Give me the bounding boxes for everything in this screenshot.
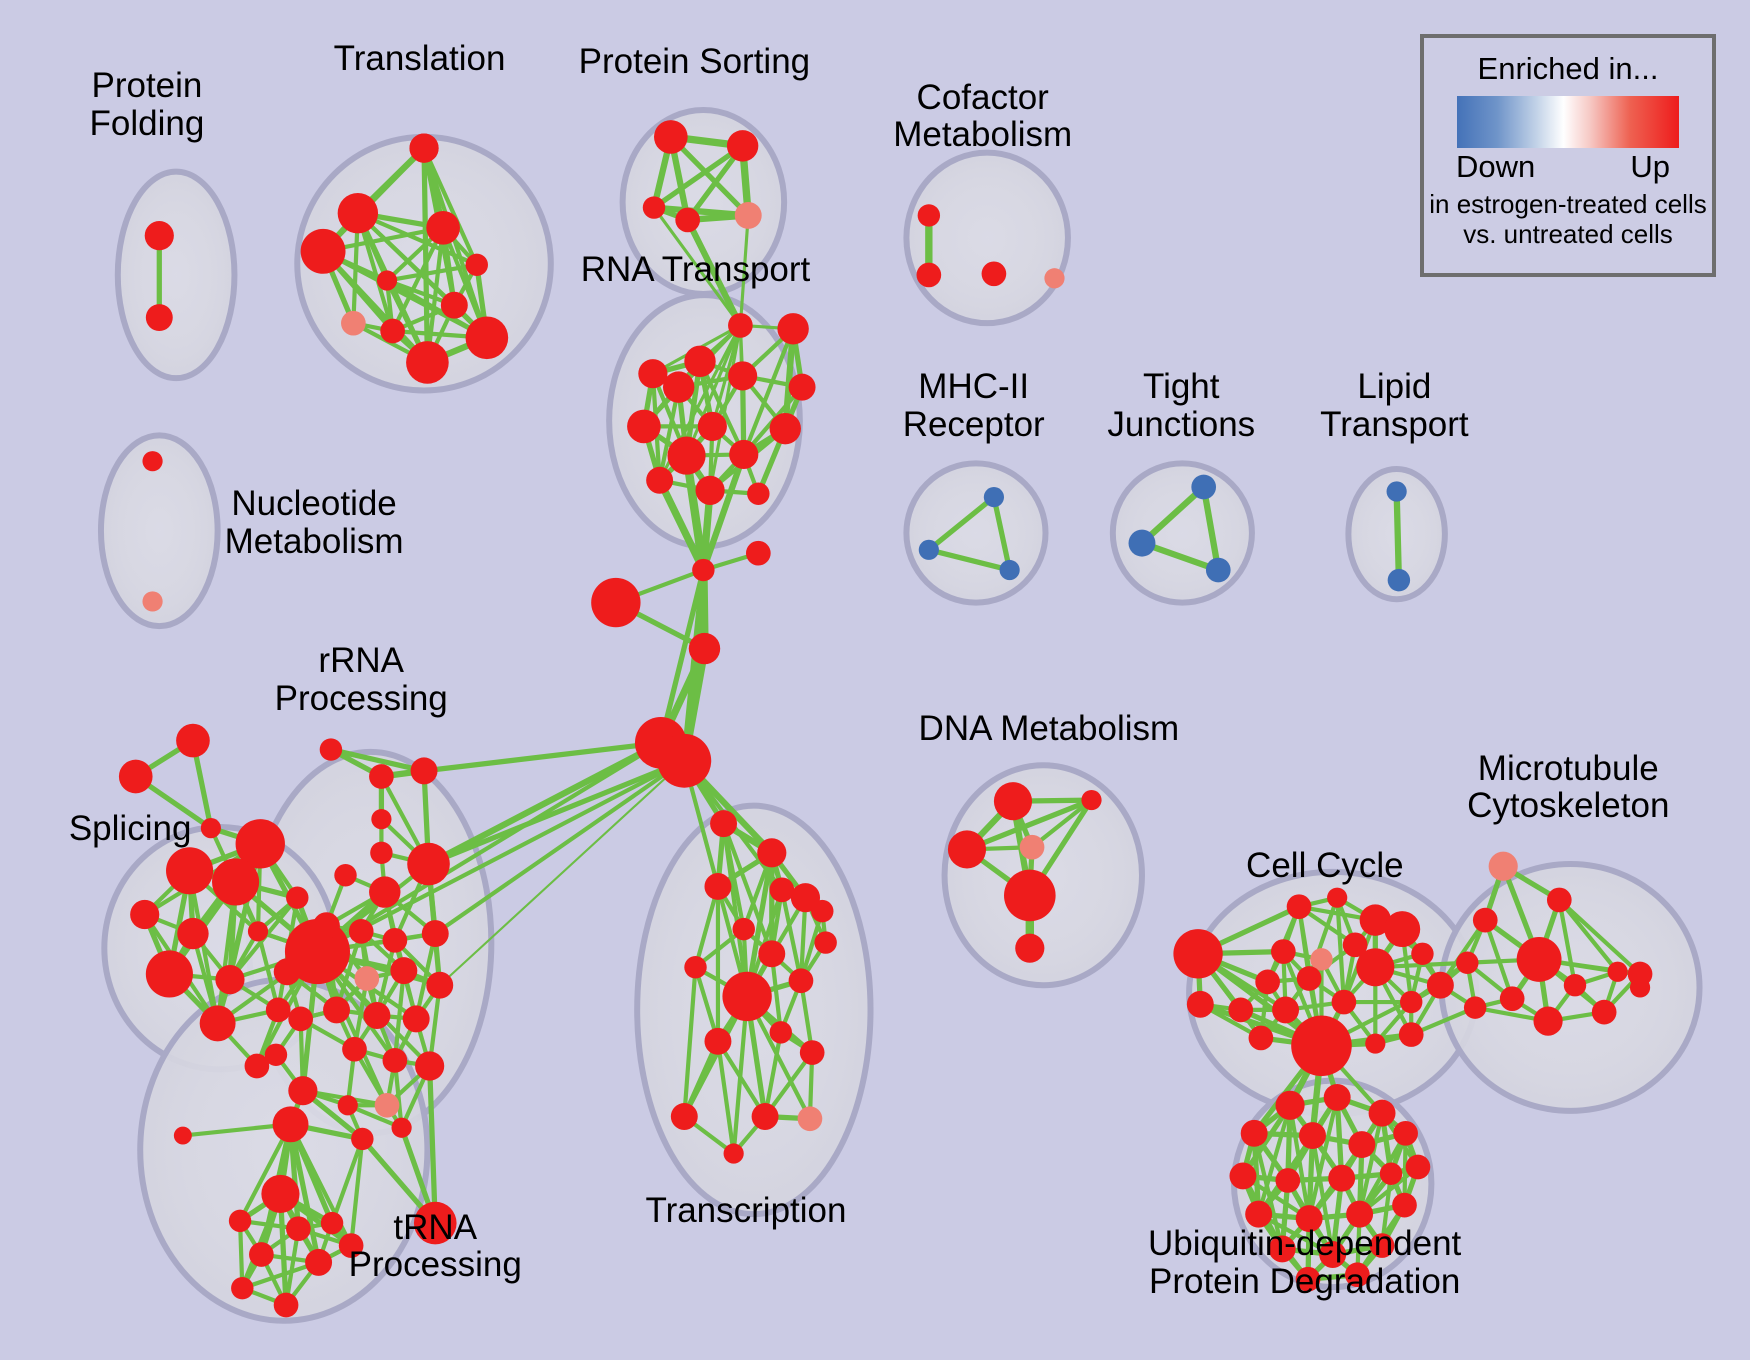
legend-color-gradient-bar (1457, 96, 1679, 148)
network-node[interactable] (323, 996, 350, 1023)
network-node[interactable] (371, 809, 391, 829)
network-node[interactable] (411, 757, 438, 784)
network-node[interactable] (338, 193, 378, 233)
network-node[interactable] (994, 782, 1032, 820)
network-node[interactable] (305, 1249, 332, 1276)
network-node[interactable] (369, 764, 394, 789)
network-node[interactable] (1348, 1131, 1375, 1158)
network-node[interactable] (466, 254, 488, 276)
network-node[interactable] (1533, 1007, 1562, 1036)
network-node[interactable] (1628, 962, 1653, 987)
network-node[interactable] (176, 724, 210, 758)
network-node[interactable] (177, 918, 208, 949)
network-node[interactable] (1406, 1155, 1431, 1180)
network-node[interactable] (591, 578, 640, 627)
network-node[interactable] (1245, 1201, 1272, 1228)
figure-canvas: Protein FoldingTranslationProtein Sortin… (0, 0, 1750, 1360)
network-edge (424, 148, 427, 362)
cluster-ellipse[interactable] (906, 463, 1045, 602)
network-node[interactable] (406, 341, 449, 384)
network-node[interactable] (1299, 1122, 1326, 1149)
network-node[interactable] (1592, 1000, 1617, 1025)
network-node[interactable] (1206, 558, 1231, 583)
network-node[interactable] (414, 1202, 457, 1245)
network-node[interactable] (145, 221, 174, 250)
network-node[interactable] (375, 1093, 400, 1118)
network-node[interactable] (704, 1028, 731, 1055)
network-node[interactable] (265, 1044, 287, 1066)
legend-caption-line-2: vs. untreated cells (1424, 220, 1712, 249)
network-node[interactable] (770, 1021, 792, 1043)
network-node[interactable] (1297, 966, 1322, 991)
network-node[interactable] (119, 760, 153, 794)
network-node[interactable] (1384, 911, 1420, 947)
network-node[interactable] (249, 1242, 274, 1267)
network-node[interactable] (798, 1106, 823, 1131)
network-node[interactable] (1388, 569, 1410, 591)
network-node[interactable] (174, 1127, 192, 1145)
network-node[interactable] (274, 1293, 299, 1318)
network-node[interactable] (657, 734, 711, 788)
network-node[interactable] (684, 346, 715, 377)
network-node[interactable] (1387, 481, 1407, 501)
network-node[interactable] (1328, 1165, 1355, 1192)
network-node[interactable] (770, 877, 795, 902)
network-node[interactable] (261, 1175, 299, 1213)
network-node[interactable] (814, 931, 836, 953)
network-node[interactable] (627, 410, 661, 444)
network-node[interactable] (1272, 996, 1299, 1023)
network-node[interactable] (351, 1128, 373, 1150)
network-node[interactable] (1608, 962, 1628, 982)
network-node[interactable] (789, 374, 816, 401)
network-node[interactable] (1275, 1091, 1304, 1120)
cluster-ellipse[interactable] (118, 172, 235, 378)
network-node[interactable] (1000, 560, 1020, 580)
network-node[interactable] (646, 467, 673, 494)
network-node[interactable] (320, 738, 342, 760)
network-node[interactable] (383, 928, 408, 953)
network-node[interactable] (339, 1233, 364, 1258)
network-node[interactable] (286, 1216, 311, 1241)
network-node[interactable] (215, 965, 244, 994)
network-node[interactable] (982, 261, 1007, 286)
network-node[interactable] (777, 313, 808, 344)
network-node[interactable] (1427, 972, 1454, 999)
network-node[interactable] (142, 451, 162, 471)
network-node[interactable] (1241, 1120, 1268, 1147)
network-node[interactable] (728, 313, 753, 338)
network-node[interactable] (1456, 952, 1478, 974)
network-node[interactable] (811, 900, 833, 922)
network-node[interactable] (1271, 939, 1296, 964)
network-node[interactable] (1291, 1016, 1352, 1077)
network-node[interactable] (1015, 934, 1044, 963)
network-node[interactable] (1296, 1267, 1321, 1292)
network-node[interactable] (392, 1118, 412, 1138)
network-node[interactable] (1249, 1026, 1274, 1051)
network-node[interactable] (710, 810, 737, 837)
network-node[interactable] (407, 843, 450, 886)
network-node[interactable] (1473, 908, 1498, 933)
network-node[interactable] (313, 912, 340, 939)
network-node[interactable] (704, 873, 731, 900)
network-node[interactable] (800, 1040, 825, 1065)
network-node[interactable] (301, 229, 346, 274)
network-node[interactable] (1319, 1241, 1346, 1268)
network-node[interactable] (349, 919, 374, 944)
network-node[interactable] (130, 900, 159, 929)
network-node[interactable] (200, 1005, 236, 1041)
legend-title: Enriched in... (1424, 51, 1712, 87)
network-node[interactable] (1004, 870, 1056, 922)
network-node[interactable] (747, 483, 769, 505)
network-node[interactable] (354, 966, 379, 991)
network-node[interactable] (746, 541, 771, 566)
network-node[interactable] (231, 1277, 253, 1299)
network-node[interactable] (166, 847, 213, 894)
network-node[interactable] (919, 540, 939, 560)
network-node[interactable] (288, 1007, 313, 1032)
network-node[interactable] (1044, 268, 1064, 288)
network-node[interactable] (727, 130, 758, 161)
network-node[interactable] (1327, 888, 1347, 908)
network-node[interactable] (334, 864, 356, 886)
network-node[interactable] (1255, 970, 1280, 995)
network-node[interactable] (1228, 998, 1253, 1023)
network-node[interactable] (654, 120, 688, 154)
network-node[interactable] (1324, 1084, 1351, 1111)
network-node[interactable] (380, 319, 405, 344)
network-node[interactable] (390, 957, 417, 984)
network-node[interactable] (1345, 1262, 1370, 1287)
network-node[interactable] (735, 202, 762, 229)
network-node[interactable] (146, 950, 193, 997)
legend-endpoints: Down Up (1424, 149, 1712, 189)
network-node[interactable] (643, 196, 665, 218)
network-node[interactable] (758, 940, 785, 967)
network-node[interactable] (1296, 1205, 1323, 1232)
network-node[interactable] (948, 830, 986, 868)
network-node[interactable] (369, 876, 400, 907)
network-node[interactable] (1269, 1235, 1296, 1262)
network-node[interactable] (1464, 996, 1486, 1018)
network-node[interactable] (1365, 1033, 1385, 1053)
network-node[interactable] (286, 886, 308, 908)
network-node[interactable] (728, 361, 757, 390)
network-node[interactable] (1392, 1193, 1417, 1218)
network-node[interactable] (201, 818, 221, 838)
network-node[interactable] (338, 1095, 358, 1115)
legend-up-label: Up (1630, 149, 1670, 185)
network-node[interactable] (1517, 937, 1562, 982)
network-node[interactable] (733, 918, 755, 940)
network-node[interactable] (1369, 1100, 1396, 1127)
network-node[interactable] (684, 956, 706, 978)
network-node[interactable] (1229, 1163, 1256, 1190)
network-node[interactable] (146, 304, 173, 331)
legend-box: Enriched in... Down Up in estrogen-treat… (1420, 34, 1716, 277)
network-node[interactable] (638, 359, 667, 388)
network-node[interactable] (984, 487, 1004, 507)
network-node[interactable] (1500, 986, 1525, 1011)
legend-caption-line-1: in estrogen-treated cells (1424, 190, 1712, 219)
network-node[interactable] (1400, 991, 1422, 1013)
network-node[interactable] (415, 1051, 444, 1080)
network-node[interactable] (757, 838, 786, 867)
network-node[interactable] (142, 591, 162, 611)
network-node[interactable] (274, 958, 301, 985)
network-node[interactable] (466, 316, 509, 359)
network-node[interactable] (752, 1103, 779, 1130)
network-node[interactable] (212, 858, 259, 905)
network-node[interactable] (1370, 1233, 1395, 1258)
network-node[interactable] (248, 921, 268, 941)
network-node[interactable] (1287, 894, 1312, 919)
network-node[interactable] (722, 972, 771, 1021)
network-node[interactable] (675, 208, 700, 233)
network-node[interactable] (403, 1005, 430, 1032)
network-node[interactable] (1399, 1022, 1424, 1047)
network-node[interactable] (441, 292, 468, 319)
network-node[interactable] (1356, 948, 1394, 986)
network-node[interactable] (671, 1103, 698, 1130)
network-node[interactable] (288, 1076, 317, 1105)
network-node[interactable] (422, 920, 449, 947)
network-node[interactable] (409, 134, 438, 163)
network-node[interactable] (696, 476, 725, 505)
network-node[interactable] (1332, 990, 1357, 1015)
network-node[interactable] (266, 998, 291, 1023)
network-node[interactable] (667, 437, 705, 475)
network-node[interactable] (341, 311, 366, 336)
network-node[interactable] (1191, 475, 1216, 500)
network-node[interactable] (1547, 888, 1572, 913)
network-edge (1397, 491, 1399, 580)
legend-down-label: Down (1456, 149, 1535, 185)
network-node[interactable] (229, 1210, 251, 1232)
network-node[interactable] (1020, 835, 1045, 860)
network-node[interactable] (363, 1002, 390, 1029)
network-node[interactable] (917, 263, 942, 288)
network-node[interactable] (377, 270, 397, 290)
network-node[interactable] (1346, 1201, 1373, 1228)
network-node[interactable] (724, 1143, 744, 1163)
network-node[interactable] (321, 1212, 343, 1234)
network-node[interactable] (1187, 991, 1214, 1018)
network-node[interactable] (1380, 1163, 1402, 1185)
network-node[interactable] (1129, 530, 1156, 557)
network-node[interactable] (426, 211, 460, 245)
network-node[interactable] (1411, 943, 1433, 965)
network-node[interactable] (698, 412, 727, 441)
network-node[interactable] (770, 413, 801, 444)
network-node[interactable] (342, 1037, 367, 1062)
network-node[interactable] (789, 968, 814, 993)
network-node[interactable] (918, 204, 940, 226)
network-node[interactable] (689, 633, 720, 664)
network-node[interactable] (426, 972, 453, 999)
network-node[interactable] (729, 440, 758, 469)
network-node[interactable] (1564, 974, 1586, 996)
network-node[interactable] (692, 559, 714, 581)
network-node[interactable] (370, 842, 392, 864)
network-node[interactable] (1393, 1121, 1418, 1146)
network-node[interactable] (1173, 929, 1222, 978)
network-node[interactable] (1489, 852, 1518, 881)
network-node[interactable] (663, 371, 694, 402)
network-node[interactable] (1081, 790, 1101, 810)
network-node[interactable] (383, 1048, 408, 1073)
network-node[interactable] (1275, 1168, 1300, 1193)
network-node[interactable] (273, 1106, 309, 1142)
